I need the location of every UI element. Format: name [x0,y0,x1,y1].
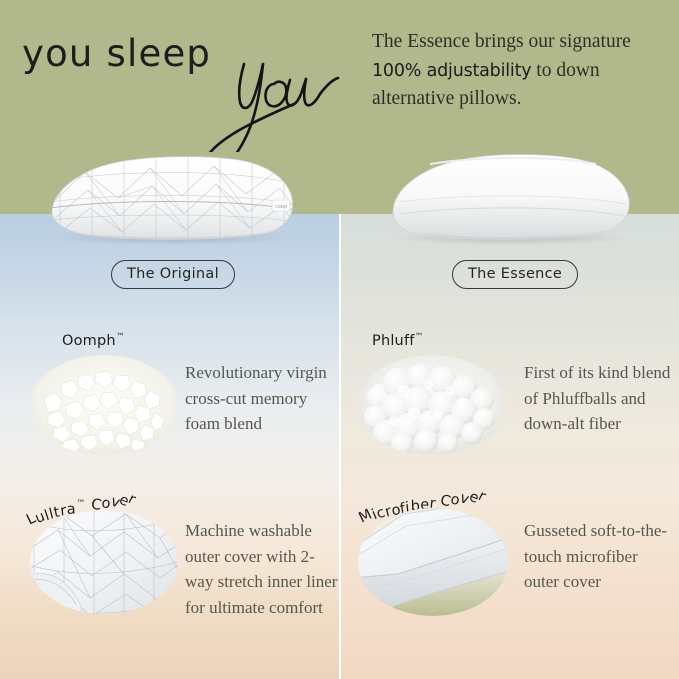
infographic-root: you sleep The Essence brings our signatu… [0,0,679,679]
feature-label-microfiber-cover-text: Microfiber Cover [362,488,482,504]
feature-label-phluff: Phluff™ [372,332,423,349]
badge-the-essence[interactable]: The Essence [452,260,578,289]
feature-label-oomph-text: Oomph [62,333,116,349]
swatch-microfiber-cover-corner [358,508,508,616]
swatch-cross-cut-memory-foam [30,355,178,455]
tagline-accent: 100% adjustability [372,61,531,81]
feature-desc-lulltra-cover: Machine washable outer cover with 2-way … [185,518,340,620]
trademark-icon: ™ [415,332,424,342]
feature-desc-phluff: First of its kind blend of Phluffballs a… [524,360,674,437]
headline-group: you sleep [22,22,352,142]
feature-label-microfiber-cover: Microfiber Cover [362,488,482,504]
header-tagline: The Essence brings our signature 100% ad… [372,28,662,114]
feature-label-lulltra-cover-text: Lulltra™ Cover [30,490,132,507]
trademark-icon: ™ [116,332,125,342]
feature-label-oomph: Oomph™ [62,332,124,349]
feature-label-phluff-text: Phluff [372,333,415,349]
header-band: you sleep The Essence brings our signatu… [0,0,679,214]
swatch-lulltra-cover-fabric [30,510,178,614]
tagline-part-1: The Essence brings our signature [372,31,631,52]
feature-desc-oomph: Revolutionary virgin cross-cut memory fo… [185,360,335,437]
feature-label-lulltra-cover: Lulltra™ Cover [30,490,132,507]
badge-the-original[interactable]: The Original [111,260,235,289]
headline-plain-text: you sleep [22,32,211,75]
swatch-phluffball-fiber [358,355,506,455]
feature-desc-microfiber-cover: Gusseted soft-to-the-touch microfiber ou… [524,518,674,595]
